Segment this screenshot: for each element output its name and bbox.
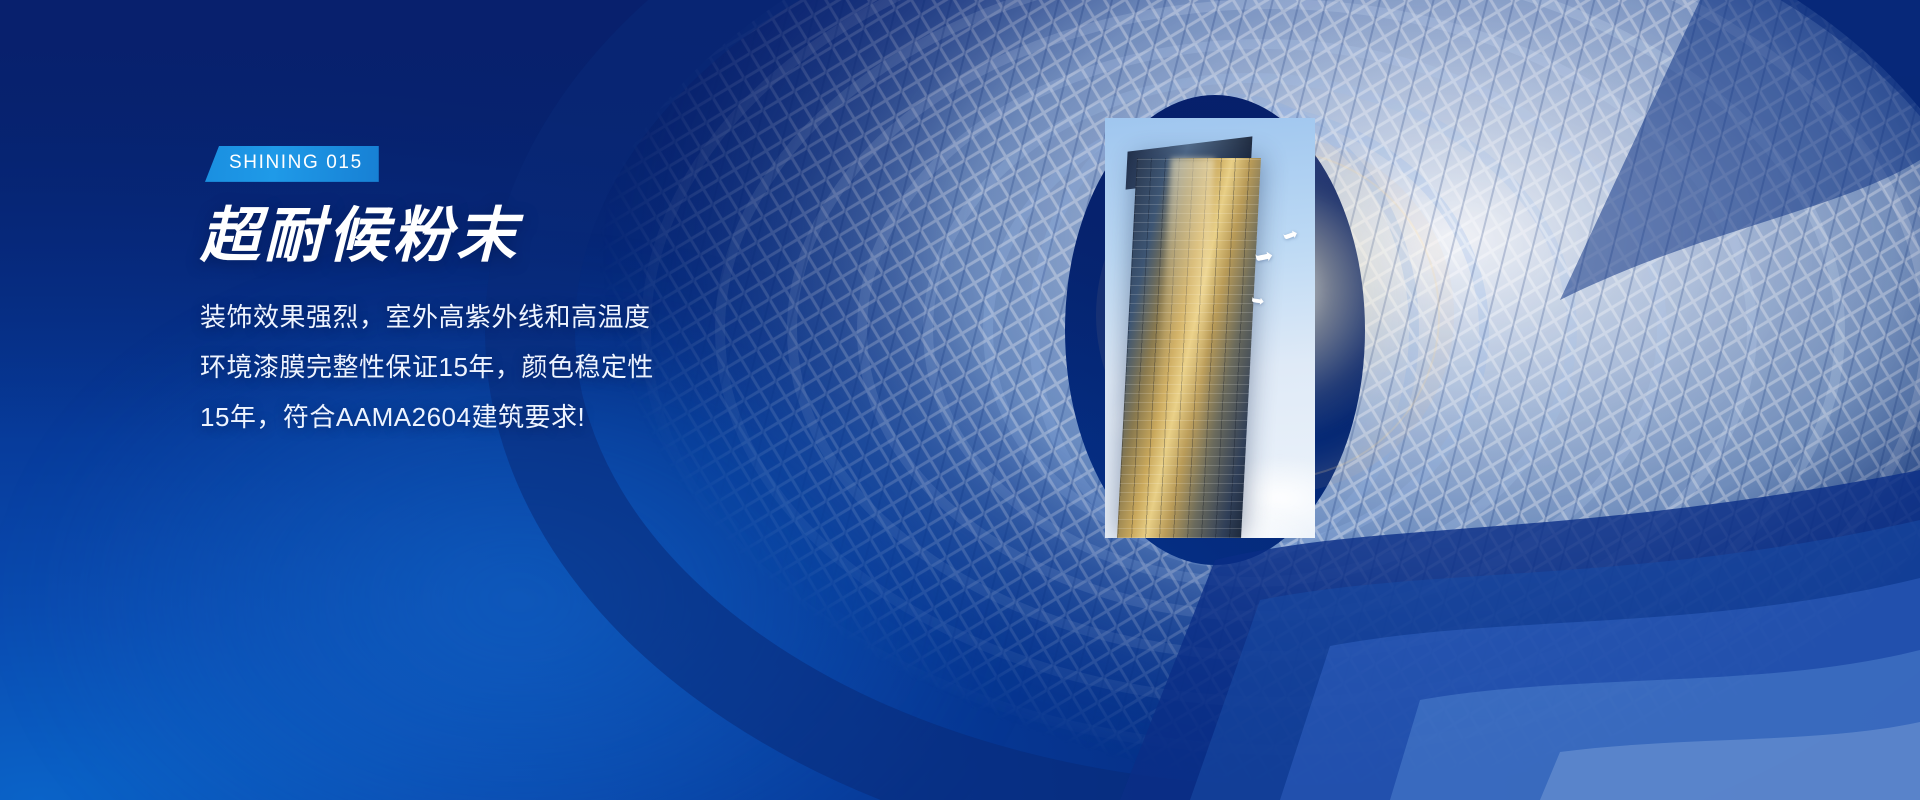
product-code-badge: SHINING 015 bbox=[205, 146, 379, 182]
description-line: 15年，符合AAMA2604建筑要求! bbox=[200, 393, 760, 443]
hero-banner: ➥ ➥ ➥ SHINING 015 超耐候粉末 装饰效果强烈，室外高紫外线和高温… bbox=[0, 0, 1920, 800]
bird-icon: ➥ bbox=[1250, 293, 1266, 311]
description-line: 装饰效果强烈，室外高紫外线和高温度 bbox=[200, 293, 760, 343]
hero-text-block: SHINING 015 超耐候粉末 装饰效果强烈，室外高紫外线和高温度 环境漆膜… bbox=[200, 146, 760, 443]
skyscraper-photo: ➥ ➥ ➥ bbox=[1105, 118, 1315, 538]
description-line: 环境漆膜完整性保证15年，颜色稳定性 bbox=[200, 343, 760, 393]
page-title: 超耐候粉末 bbox=[200, 204, 760, 267]
product-description: 装饰效果强烈，室外高紫外线和高温度 环境漆膜完整性保证15年，颜色稳定性 15年… bbox=[200, 293, 760, 443]
